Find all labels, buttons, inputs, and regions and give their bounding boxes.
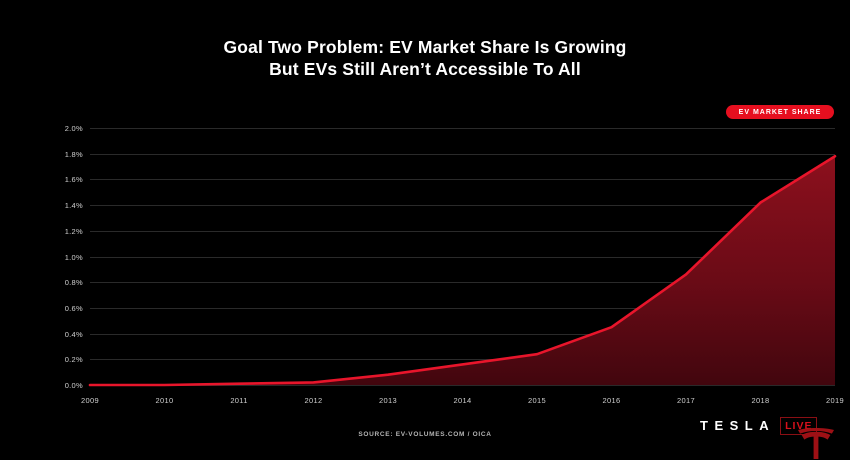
y-axis-tick-label: 0.4% [23, 330, 83, 339]
x-axis-tick-label: 2018 [752, 396, 770, 405]
y-axis-tick-label: 1.2% [23, 227, 83, 236]
x-axis-tick-label: 2015 [528, 396, 546, 405]
y-axis-tick-label: 2.0% [23, 124, 83, 133]
tesla-wordmark: TESLA [700, 416, 775, 436]
tesla-t-logo-icon [795, 428, 837, 460]
legend-badge-ev-market-share[interactable]: EV MARKET SHARE [726, 105, 834, 119]
x-axis-tick-label: 2011 [230, 396, 247, 405]
title-line-1: Goal Two Problem: EV Market Share Is Gro… [0, 36, 850, 58]
y-axis-tick-label: 0.2% [23, 355, 83, 364]
page-title: Goal Two Problem: EV Market Share Is Gro… [0, 36, 850, 80]
ev-market-share-area-series [90, 128, 835, 385]
title-line-2: But EVs Still Aren’t Accessible To All [0, 58, 850, 80]
y-axis-tick-label: 0.0% [23, 381, 83, 390]
y-axis-tick-label: 0.6% [23, 304, 83, 313]
area-fill [90, 156, 835, 385]
y-axis-tick-label: 1.6% [23, 175, 83, 184]
chart-x-axis: 2009201020112012201320142015201620172018… [60, 396, 835, 410]
x-axis-tick-label: 2010 [156, 396, 174, 405]
x-axis-tick-label: 2012 [305, 396, 323, 405]
x-axis-tick-label: 2016 [603, 396, 621, 405]
x-axis-tick-label: 2013 [379, 396, 397, 405]
legend-label: EV MARKET SHARE [739, 109, 822, 116]
chart-plot-area: 0.0%0.2%0.4%0.6%0.8%1.0%1.2%1.4%1.6%1.8%… [60, 128, 835, 390]
y-axis-tick-label: 1.4% [23, 201, 83, 210]
y-axis-tick-label: 0.8% [23, 278, 83, 287]
y-axis-tick-label: 1.0% [23, 253, 83, 262]
x-axis-tick-label: 2019 [826, 396, 844, 405]
x-axis-tick-label: 2014 [454, 396, 472, 405]
x-axis-tick-label: 2017 [677, 396, 695, 405]
y-axis-tick-label: 1.8% [23, 150, 83, 159]
x-axis-tick-label: 2009 [81, 396, 99, 405]
